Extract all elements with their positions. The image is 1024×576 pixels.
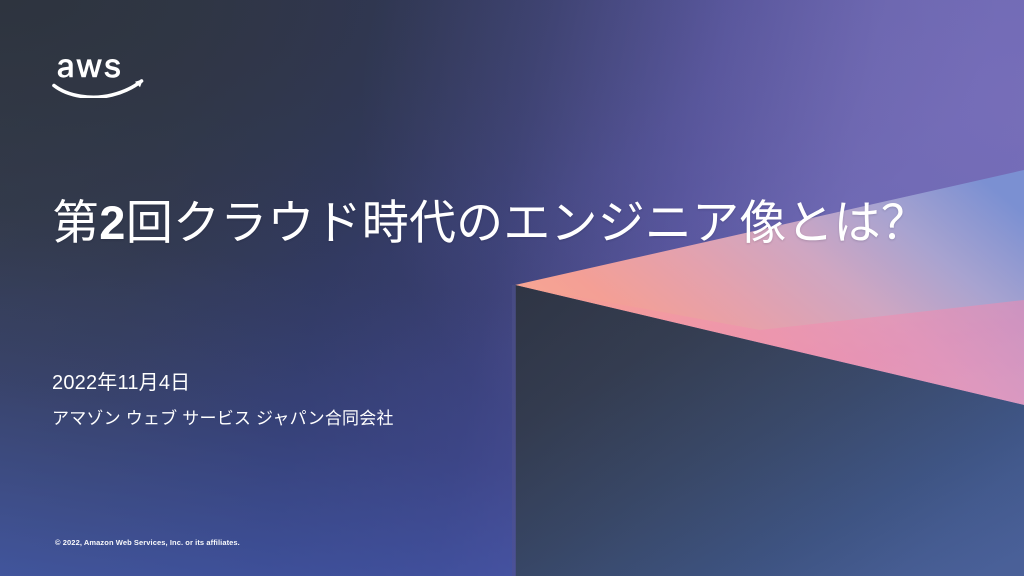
presentation-organization: アマゾン ウェブ サービス ジャパン合同会社 <box>52 406 394 432</box>
background-right-tint <box>0 0 1024 576</box>
title-slide: 第2回クラウド時代のエンジニア像とは？ 2022年11月4日 アマゾン ウェブ … <box>0 0 1024 576</box>
aws-smile-icon <box>54 81 142 97</box>
title-prefix: 第 <box>52 196 99 249</box>
title-suffix: 回クラウド時代のエンジニア像とは？ <box>126 196 928 249</box>
presentation-date: 2022年11月4日 <box>52 368 394 398</box>
title-emphasis: 2 <box>99 196 126 249</box>
presentation-meta: 2022年11月4日 アマゾン ウェブ サービス ジャパン合同会社 <box>52 368 394 432</box>
copyright-notice: © 2022, Amazon Web Services, Inc. or its… <box>55 538 240 547</box>
aws-wordmark-icon <box>58 59 120 78</box>
page-title: 第2回クラウド時代のエンジニア像とは？ <box>52 197 928 250</box>
aws-logo <box>52 40 146 98</box>
